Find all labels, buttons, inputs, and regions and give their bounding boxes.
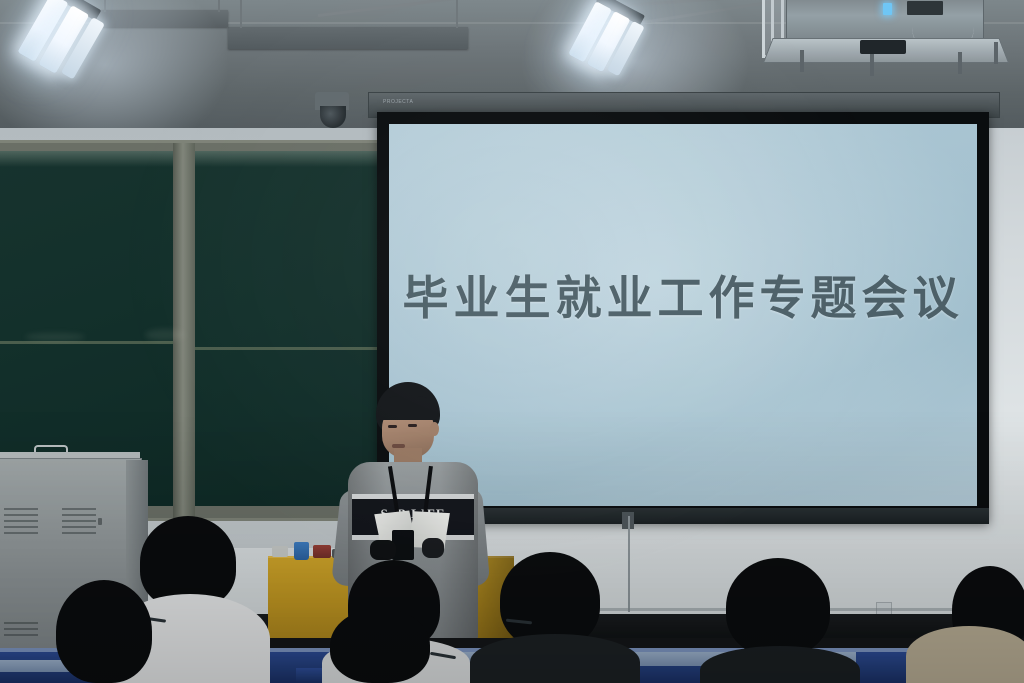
projector-leg <box>994 42 998 64</box>
vent-slat <box>4 622 38 624</box>
vent-slat <box>4 634 38 636</box>
presenter-right-hand <box>422 538 444 558</box>
audience-head <box>330 608 430 683</box>
projector-power-led <box>883 3 892 15</box>
projector-leg <box>800 50 804 72</box>
audience-head <box>726 558 830 656</box>
audience-shoulders-dark <box>470 634 640 683</box>
vent-slat <box>62 520 96 522</box>
ceiling-projector <box>762 0 1010 76</box>
cabinet-lock <box>98 518 102 525</box>
vent-slat <box>4 628 38 630</box>
hanger-rod <box>240 0 242 28</box>
projector-leg <box>958 52 962 74</box>
presenter-ear <box>430 422 439 436</box>
chalkboard-ledge <box>0 341 173 344</box>
presenter-left-hand <box>370 540 396 560</box>
hanger-rod <box>104 0 106 12</box>
vent-slat <box>62 508 96 510</box>
presenter-eye <box>388 425 397 428</box>
red-box <box>313 545 331 558</box>
projector-lens <box>860 40 906 54</box>
hanger-rod <box>218 0 220 12</box>
chalk-smudge <box>145 329 185 341</box>
vent-slat <box>4 520 38 522</box>
presenter-hair-front <box>378 396 438 420</box>
classroom-photo-scene: PROJECTA 毕业生就业工作专题会议 S. B LIFE <box>0 0 1024 683</box>
white-paper <box>272 546 288 557</box>
vent-slat <box>4 508 38 510</box>
vent-slat <box>62 532 96 534</box>
chalk-smudge <box>25 333 85 341</box>
projector-leg <box>870 54 874 76</box>
blue-cup <box>294 542 309 560</box>
audience-head <box>56 580 152 683</box>
hanger-rod <box>456 0 458 28</box>
audience-shoulders-tan <box>906 626 1024 683</box>
presenter-eye <box>408 424 417 427</box>
vent-slat <box>62 526 96 528</box>
vent-slat <box>62 514 96 516</box>
vent-slat <box>4 526 38 528</box>
chalkboard-ledge <box>195 347 377 350</box>
housing-label: PROJECTA <box>383 99 413 105</box>
vent-slat <box>4 532 38 534</box>
slide-title: 毕业生就业工作专题会议 <box>389 262 977 328</box>
ceiling-beam-center <box>228 27 468 49</box>
vent-slat <box>4 514 38 516</box>
wall-cable <box>628 516 630 612</box>
